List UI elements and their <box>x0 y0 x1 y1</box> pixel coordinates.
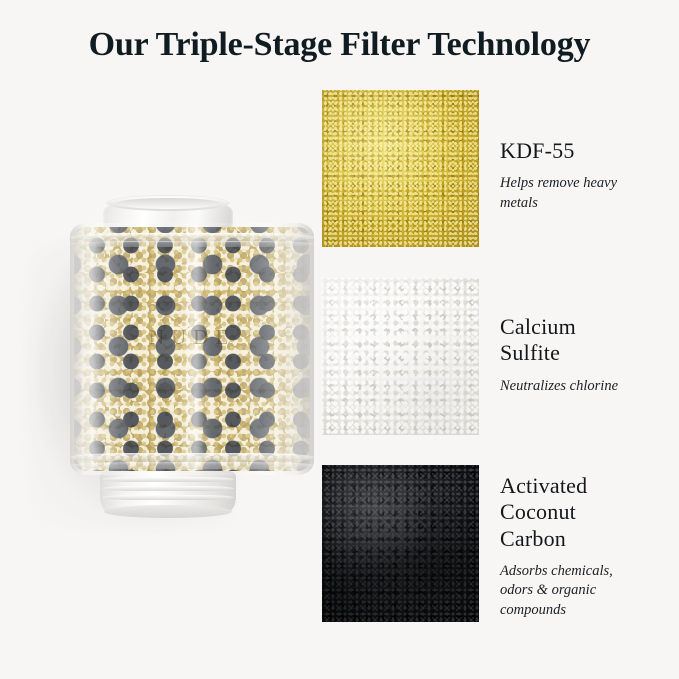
stage-title-kdf-55: KDF-55 <box>500 138 679 164</box>
cartridge-neck-opening <box>116 198 220 209</box>
product-image-filter-cartridge: NUDE <box>28 175 308 595</box>
cartridge-base-bottom <box>104 505 232 518</box>
cartridge-highlight-left <box>84 227 100 471</box>
stage-description-kdf-55: Helps remove heavy metals <box>500 174 679 213</box>
cartridge-media-fill <box>74 227 310 471</box>
stage-label-group-calcium-sulfite: Calcium Sulfite Neutralizes chlorine <box>500 314 679 396</box>
cartridge-rib-bottom-1 <box>70 453 314 462</box>
filter-technology-infographic: Our Triple-Stage Filter Technology NUDE … <box>0 0 679 679</box>
stage-title-calcium-sulfite: Calcium Sulfite <box>500 314 679 367</box>
stage-title-activated-coconut-carbon: Activated Coconut Carbon <box>500 473 679 552</box>
cartridge-base-thread-1 <box>102 477 234 482</box>
stage-label-group-kdf-55: KDF-55 Helps remove heavy metals <box>500 138 679 213</box>
stage-label-group-activated-coconut-carbon: Activated Coconut Carbon Adsorbs chemica… <box>500 473 679 620</box>
calcium-sulfite-media-swatch <box>322 278 479 435</box>
stage-description-activated-coconut-carbon: Adsorbs chemicals, odors & organic compo… <box>500 562 679 620</box>
cartridge-rib-top-2 <box>70 241 314 247</box>
page-title: Our Triple-Stage Filter Technology <box>0 26 679 64</box>
cartridge-rib-bottom-2 <box>70 462 314 469</box>
activated-coconut-carbon-media-swatch <box>322 465 479 622</box>
stage-description-calcium-sulfite: Neutralizes chlorine <box>500 377 679 396</box>
cartridge-base-thread-2 <box>102 486 234 491</box>
cartridge-base-thread-3 <box>102 495 234 500</box>
kdf-55-media-swatch <box>322 90 479 247</box>
